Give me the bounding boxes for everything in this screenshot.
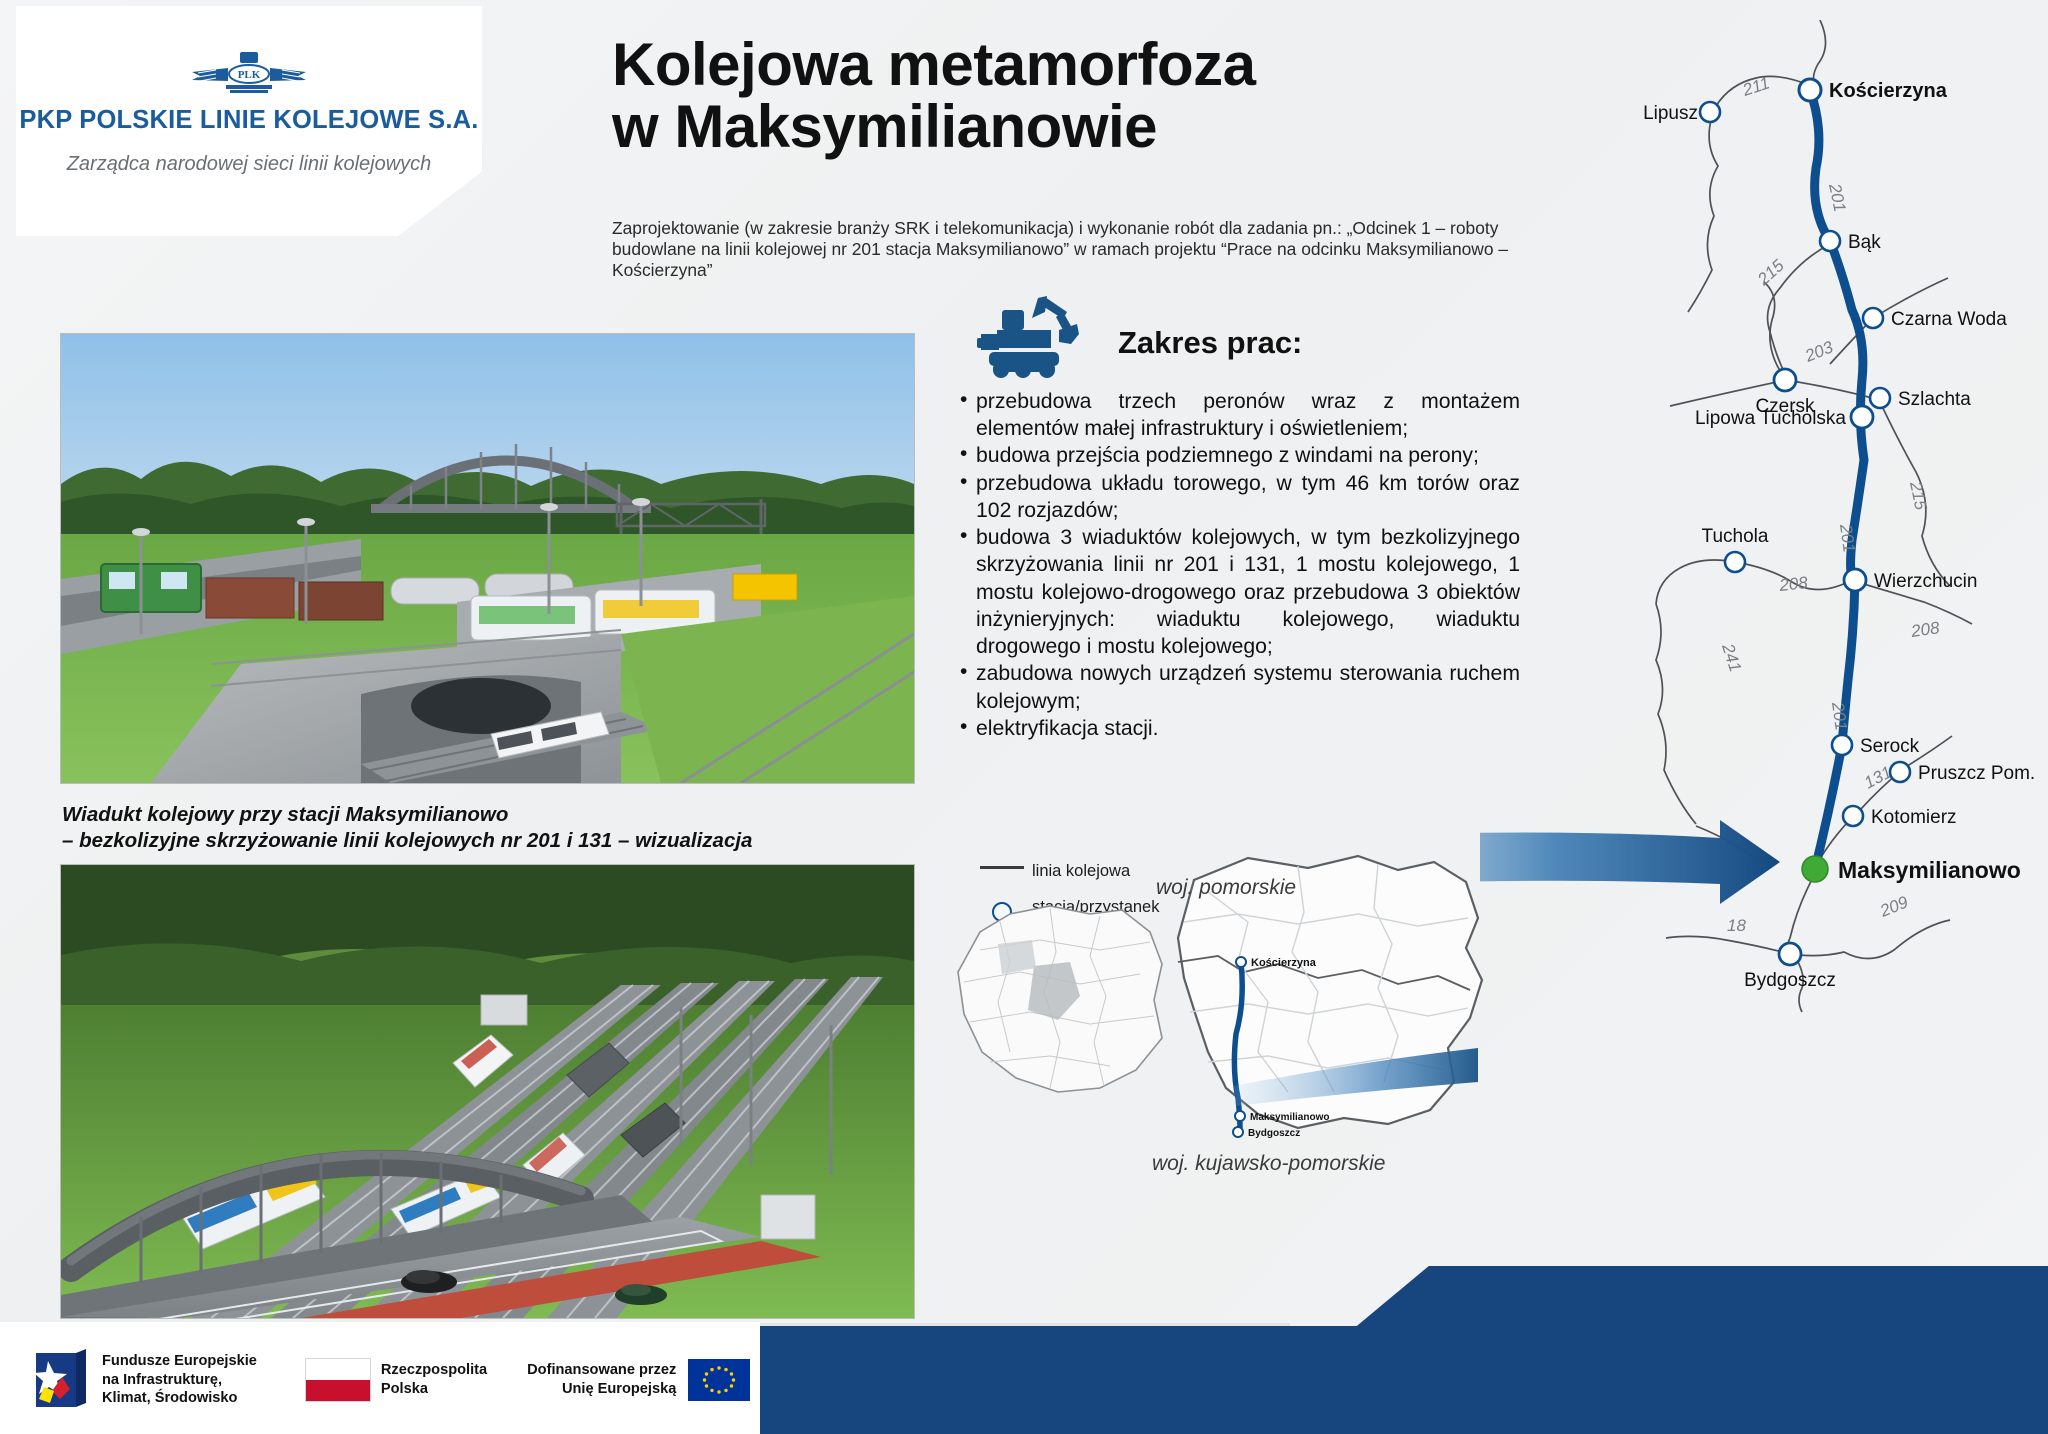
funding-cofinanced-text: Dofinansowane przez Unię Europejską [527, 1361, 676, 1398]
eu-flag-icon [688, 1359, 750, 1401]
scope-list: przebudowa trzech peronów wraz z montaże… [960, 388, 1520, 742]
funding-eu-funds: Fundusze Europejskie na Infrastrukturę, … [30, 1347, 257, 1413]
scope-list-item: budowa 3 wiaduktów kolejowych, w tym bez… [960, 524, 1520, 660]
inset-region-south-label: woj. kujawsko-pomorskie [1152, 1152, 1385, 1175]
line-number: 201 [1825, 181, 1850, 214]
line-number: 208 [1777, 573, 1809, 595]
station-marker: Lipusz [1643, 102, 1720, 124]
eu-funds-line-3: Klimat, Środowisko [102, 1389, 257, 1408]
page-title-line-2: w Maksymilianowie [612, 96, 1472, 158]
footer-blue-bar [758, 1326, 2048, 1434]
funding-cofinanced-eu: Dofinansowane przez Unię Europejską [527, 1359, 750, 1401]
photo-caption: Wiadukt kolejowy przy stacji Maksymilian… [62, 802, 942, 853]
station-marker: Tuchola [1702, 526, 1769, 572]
funding-poland-text: Rzeczpospolita Polska [381, 1361, 487, 1398]
line-number: 215 [1906, 479, 1931, 512]
station-label-lipowa-tucholska: Lipowa Tucholska [1695, 408, 1846, 429]
line-number: 131 [1861, 762, 1895, 792]
station-label-czarna-woda: Czarna Woda [1891, 309, 2007, 330]
station-label-kotomierz: Kotomierz [1871, 807, 1957, 828]
station-label-bydgoszcz: Bydgoszcz [1744, 970, 1836, 991]
funding-republic-poland: Rzeczpospolita Polska [305, 1358, 487, 1402]
scope-heading: Zakres prac: [1118, 325, 1302, 361]
poland-line-2: Polska [381, 1380, 487, 1399]
excavator-icon [975, 288, 1081, 385]
brand-logo-wrap: PLK PKP POLSKIE LINIE KOLEJOWE S.A. Zarz… [16, 50, 482, 176]
scope-list-item: przebudowa układu torowego, w tym 46 km … [960, 470, 1520, 524]
inset-label-koscierzyna: Kościerzyna [1251, 957, 1317, 969]
eu-funds-line-1: Fundusze Europejskie [102, 1352, 257, 1371]
page-title: Kolejowa metamorfoza w Maksymilianowie [612, 34, 1472, 159]
station-marker-maksymilianowo: Maksymilianowo [1802, 856, 2021, 883]
poland-thumbnail [958, 906, 1162, 1092]
station-marker: Szlachta [1870, 388, 1971, 410]
funding-eu-funds-text: Fundusze Europejskie na Infrastrukturę, … [102, 1352, 257, 1408]
footer-blue-wedge [1328, 1266, 2048, 1326]
line-number: 241 [1718, 640, 1745, 674]
poland-inset-map: Kościerzyna Maksymilianowo Bydgoszcz woj… [940, 852, 1500, 1182]
station-label-maksymilianowo: Maksymilianowo [1838, 857, 2021, 883]
photo-viaduct-visualization-top [60, 333, 915, 784]
route-schematic-map: 211 201 215 203 215 201 208 208 241 201 … [1480, 20, 2040, 1020]
station-marker: Serock [1832, 735, 1920, 757]
photo-top-artwork [61, 334, 914, 783]
station-label-pruszcz-pom: Pruszcz Pom. [1918, 763, 2035, 784]
scope-list-item: zabudowa nowych urządzeń systemu sterowa… [960, 660, 1520, 714]
line-number: 211 [1739, 73, 1772, 100]
inset-label-maksymilianowo: Maksymilianowo [1250, 1112, 1329, 1123]
zoom-arrow [1480, 820, 1780, 904]
brand-name: PKP POLSKIE LINIE KOLEJOWE S.A. [16, 106, 482, 135]
footer-funding-strip: Fundusze Europejskie na Infrastrukturę, … [0, 1326, 760, 1434]
excavator-glyph [975, 288, 1081, 380]
station-label-tuchola: Tuchola [1702, 526, 1769, 547]
station-label-szlachta: Szlachta [1898, 389, 1971, 410]
station-label-lipusz: Lipusz [1643, 103, 1698, 124]
station-marker: Lipowa Tucholska [1695, 406, 1873, 429]
line-number: 208 [1909, 618, 1941, 641]
poster-canvas: PLK PKP POLSKIE LINIE KOLEJOWE S.A. Zarz… [0, 0, 2048, 1434]
scope-list-item: przebudowa trzech peronów wraz z montaże… [960, 388, 1520, 442]
station-marker: Wierzchucin [1844, 569, 1977, 592]
station-label-serock: Serock [1860, 736, 1920, 757]
station-marker: Pruszcz Pom. [1890, 762, 2035, 784]
photo-caption-line-1: Wiadukt kolejowy przy stacji Maksymilian… [62, 802, 942, 828]
svg-text:PLK: PLK [238, 69, 261, 81]
plk-wings-emblem-icon: PLK [190, 50, 308, 102]
line-number: 201 [1828, 700, 1851, 732]
inset-region-north-label: woj. pomorskie [1156, 876, 1296, 899]
cofinanced-line-2: Unię Europejską [527, 1380, 676, 1399]
eu-funds-line-2: na Infrastrukturę, [102, 1371, 257, 1390]
poland-flag-icon [305, 1358, 371, 1402]
region-detail-map: Kościerzyna Maksymilianowo Bydgoszcz woj… [1152, 856, 1482, 1175]
station-marker: Kotomierz [1843, 806, 1957, 828]
photo-bottom-artwork [61, 865, 914, 1318]
inset-label-bydgoszcz: Bydgoszcz [1248, 1128, 1300, 1139]
brand-logo-card: PLK PKP POLSKIE LINIE KOLEJOWE S.A. Zarz… [16, 6, 482, 236]
station-label-koscierzyna: Kościerzyna [1829, 80, 1948, 102]
scope-list-item: budowa przejścia podziemnego z windami n… [960, 442, 1520, 469]
poland-line-1: Rzeczpospolita [381, 1361, 487, 1380]
station-marker: Bąk [1820, 231, 1881, 253]
scope-list-item: elektryfikacja stacji. [960, 715, 1520, 742]
page-title-line-1: Kolejowa metamorfoza [612, 34, 1472, 96]
station-marker: Bydgoszcz [1744, 943, 1836, 991]
brand-tagline: Zarządca narodowej sieci linii kolejowyc… [16, 153, 482, 176]
line-number: 201 [1836, 522, 1859, 554]
station-marker: Kościerzyna [1799, 79, 1948, 102]
page-subtitle: Zaprojektowanie (w zakresie branży SRK i… [612, 218, 1532, 282]
station-label-wierzchucin: Wierzchucin [1874, 571, 1977, 592]
eu-funds-logo-icon [30, 1347, 92, 1413]
photo-viaduct-visualization-bottom [60, 864, 915, 1319]
cofinanced-line-1: Dofinansowane przez [527, 1361, 676, 1380]
footer-white-strip [0, 1322, 760, 1326]
photo-caption-line-2: – bezkolizyjne skrzyżowanie linii kolejo… [62, 828, 942, 854]
line-number: 18 [1727, 916, 1746, 935]
line-number: 209 [1876, 892, 1911, 921]
station-label-bak: Bąk [1848, 232, 1881, 253]
